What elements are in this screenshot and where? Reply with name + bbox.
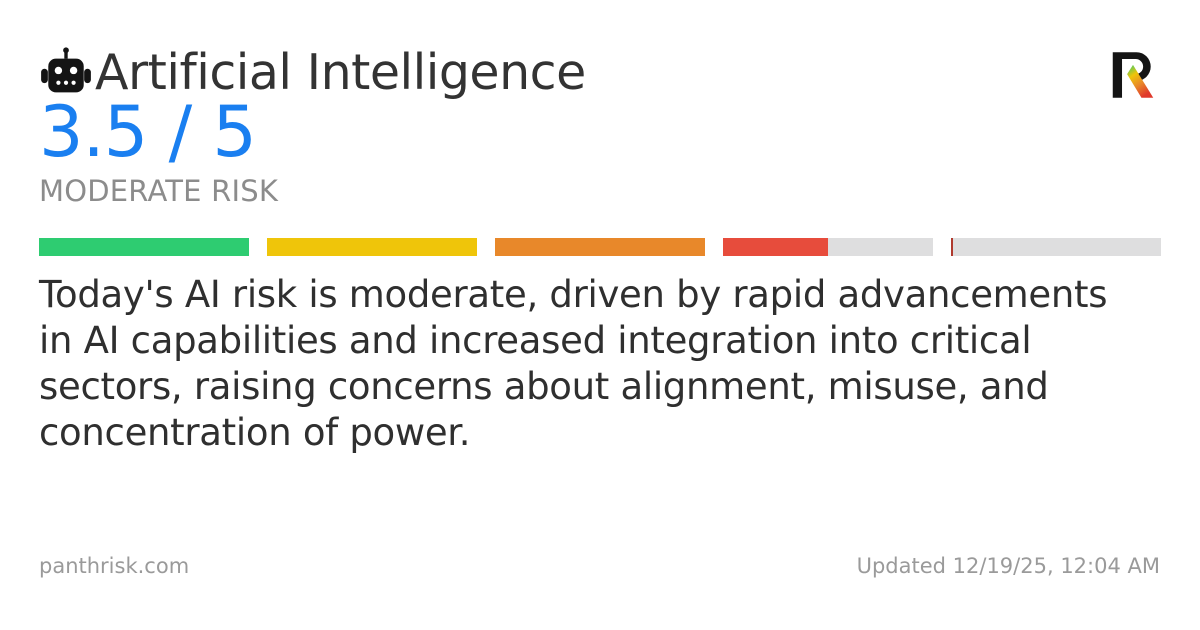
updated-timestamp: Updated 12/19/25, 12:04 AM	[857, 554, 1160, 578]
gauge-segment-5	[951, 238, 1161, 256]
card-header: Artificial Intelligence	[39, 40, 1160, 100]
risk-score: 3.5 / 5	[39, 96, 1160, 170]
gauge-segment-3	[495, 238, 705, 256]
risk-level-label: MODERATE RISK	[39, 176, 1160, 208]
risk-gauge	[39, 238, 1161, 256]
card-footer: panthrisk.com Updated 12/19/25, 12:04 AM	[39, 554, 1160, 600]
gauge-segment-2	[267, 238, 477, 256]
gauge-segment-4	[723, 238, 933, 256]
gauge-segment-4-fill	[723, 238, 828, 256]
panth-r-logo-icon[interactable]	[1106, 48, 1160, 102]
gauge-segment-5-fill	[951, 238, 953, 256]
page-title: Artificial Intelligence	[95, 47, 586, 99]
site-name[interactable]: panthrisk.com	[39, 554, 189, 578]
gauge-segment-2-fill	[267, 238, 477, 256]
risk-summary-text: Today's AI risk is moderate, driven by r…	[39, 272, 1149, 456]
robot-icon	[39, 46, 93, 100]
risk-summary-card: Artificial Intelligence 3.5 / 5 MODERATE…	[0, 0, 1200, 630]
title-row: Artificial Intelligence	[39, 46, 586, 100]
gauge-segment-1	[39, 238, 249, 256]
gauge-segment-1-fill	[39, 238, 249, 256]
gauge-segment-3-fill	[495, 238, 705, 256]
